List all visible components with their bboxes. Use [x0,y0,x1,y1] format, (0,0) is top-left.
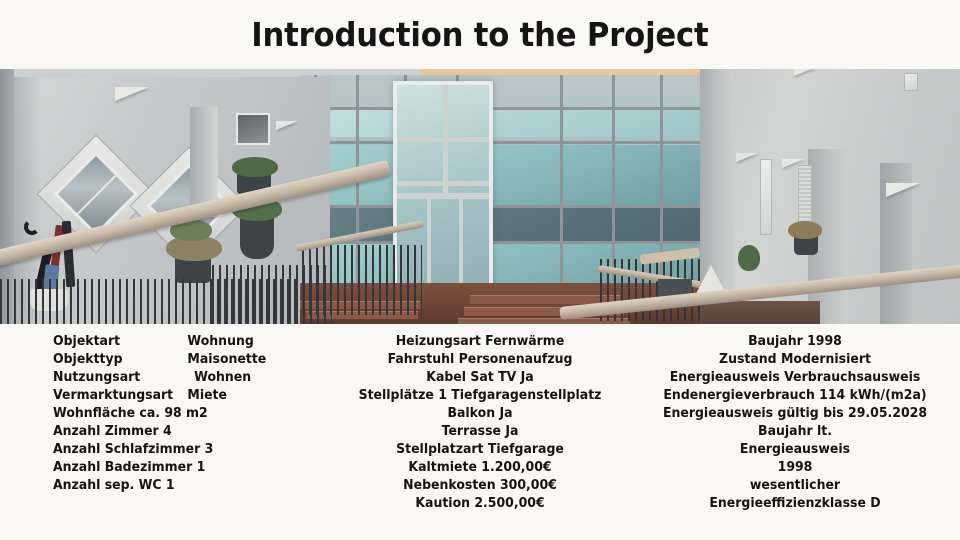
detail-row: Energieeffizienzklasse D [637,495,954,513]
detail-row: Objektart Wohnung [53,333,319,351]
facade-glass-band [300,109,720,137]
detail-row: Vermarktungsart Miete [53,387,319,405]
detail-label: Anzahl Schlafzimmer 3 [53,441,213,459]
detail-row: Baujahr 1998 [637,333,954,351]
awning [115,87,149,101]
title-bar: Introduction to the Project [0,0,960,69]
detail-row: Stellplätze 1 Tiefgaragenstellplatz [336,387,624,405]
facade-transom [300,141,720,144]
detail-row: Kabel Sat TV Ja [336,369,624,387]
detail-value: Wohnen [187,369,251,387]
detail-row: wesentlicher [637,477,954,495]
detail-label: Vermarktungsart [53,387,187,405]
detail-label: Anzahl Badezimmer 1 [53,459,205,477]
detail-row: Energieausweis Verbrauchsausweis [637,369,954,387]
details-columns: Objektart Wohnung Objekttyp Maisonette N… [0,333,960,513]
planter [240,215,274,259]
detail-label: Objektart [53,333,187,351]
property-details: Objektart Wohnung Objekttyp Maisonette N… [0,324,960,540]
detail-value: Wohnung [187,333,253,351]
detail-row: Zustand Modernisiert [637,351,954,369]
detail-label: Anzahl Zimmer 4 [53,423,172,441]
details-column-middle: Heizungsart Fernwärme Fahrstuhl Personen… [330,333,630,513]
detail-row: Kaltmiete 1.200,00€ [336,459,624,477]
detail-row: Nebenkosten 300,00€ [336,477,624,495]
detail-row: Heizungsart Fernwärme [336,333,624,351]
detail-row: Kaution 2.500,00€ [336,495,624,513]
detail-row: Stellplatzart Tiefgarage [336,441,624,459]
detail-row: Anzahl Schlafzimmer 3 [53,441,319,459]
wall-window [236,113,270,145]
detail-row: Anzahl sep. WC 1 [53,477,319,495]
awning [886,183,920,197]
elevator-frame [443,85,448,193]
walkway [700,301,820,324]
details-column-left: Objektart Wohnung Objekttyp Maisonette N… [0,333,330,513]
railing-balusters [0,279,300,324]
detail-label: Anzahl sep. WC 1 [53,477,175,495]
plant-foliage [738,245,760,271]
detail-row: Anzahl Badezimmer 1 [53,459,319,477]
page-title: Introduction to the Project [251,15,708,54]
foreground-railing [0,279,300,324]
detail-label: Wohnfläche ca. 98 m2 [53,405,208,423]
detail-label: Objekttyp [53,351,187,369]
detail-value: Miete [187,387,227,405]
detail-label: Nutzungsart [53,369,187,387]
detail-row: Fahrstuhl Personenaufzug [336,351,624,369]
detail-row: Balkon Ja [336,405,624,423]
detail-row: Endenergieverbrauch 114 kWh/(m2a) [637,387,954,405]
detail-row: Energieausweis gültig bis 29.05.2028 [637,405,954,423]
detail-row: Nutzungsart Wohnen [53,369,319,387]
detail-row: 1998 [637,459,954,477]
awning [736,153,758,162]
detail-row: Anzahl Zimmer 4 [53,423,319,441]
wall-window [760,159,772,235]
awning [794,69,816,76]
plant-foliage [788,221,822,239]
slide: Introduction to the Project [0,0,960,540]
detail-row: Terrasse Ja [336,423,624,441]
detail-row: Objekttyp Maisonette [53,351,319,369]
detail-row: Wohnfläche ca. 98 m2 [53,405,319,423]
facade-transom [300,107,720,110]
detail-row: Energieausweis [637,441,954,459]
detail-row: Baujahr lt. [637,423,954,441]
facade-transom [300,205,720,208]
awning [782,159,804,168]
awning [276,121,298,130]
facade-transom [300,241,720,244]
elevator-frame [397,193,489,199]
wall-window [904,73,918,91]
umbrella-handle [24,219,40,235]
details-column-right: Baujahr 1998 Zustand Modernisiert Energi… [630,333,960,513]
courtyard-photo [0,69,960,324]
detail-value: Maisonette [187,351,266,369]
plant-foliage [232,157,278,177]
